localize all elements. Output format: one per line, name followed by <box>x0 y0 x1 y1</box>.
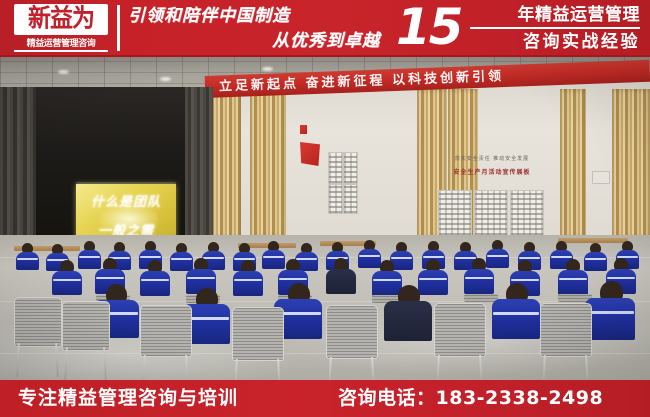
uniform-stripe <box>203 257 224 259</box>
uniform-stripe <box>455 257 476 259</box>
flag-emblem <box>300 125 307 134</box>
experience-years-block: 15 年精益运营管理 咨询实战经验 <box>392 2 642 55</box>
years-text: 年精益运营管理 咨询实战经验 <box>470 3 640 54</box>
chair-back <box>540 303 592 357</box>
person-body <box>16 252 39 270</box>
display-board <box>343 152 358 184</box>
person-body <box>326 269 356 294</box>
chair-leg <box>16 343 20 377</box>
slogan-line-1: 引领和陪伴中国制造 <box>128 4 388 29</box>
uniform-stripe <box>511 279 539 281</box>
uniform-stripe <box>419 278 447 280</box>
uniform-stripe <box>359 255 380 257</box>
person-body <box>492 299 540 339</box>
person-body <box>52 271 82 295</box>
chair-leg <box>234 359 238 380</box>
footer-bar: 专注精益管理咨询与培训 咨询电话：183-2338-2498 <box>0 380 650 417</box>
flag-emblem <box>300 142 320 166</box>
wall-board-subheading: 安全生产月活动宣传展板 <box>440 167 544 176</box>
chair-seat <box>464 294 498 302</box>
years-number: 15 <box>396 1 462 53</box>
header-bar: 新益为 精益运营管理咨询 引领和陪伴中国制造 从优秀到卓越 15 年精益运营管理… <box>0 0 650 57</box>
uniform-stripe <box>493 312 539 315</box>
years-line-1: 年精益运营管理 <box>470 3 640 27</box>
uniform-stripe <box>234 279 262 281</box>
person-body <box>585 298 635 340</box>
display-board <box>343 184 358 214</box>
promo-banner-image: 新益为 精益运营管理咨询 引领和陪伴中国制造 从优秀到卓越 15 年精益运营管理… <box>0 0 650 417</box>
chair <box>434 303 484 380</box>
person-body <box>358 249 381 268</box>
gold-curtain <box>612 89 650 239</box>
stage-curtain-left <box>0 87 36 237</box>
chair-leg <box>103 347 107 380</box>
chair-leg <box>436 355 440 380</box>
person-body <box>140 271 170 296</box>
person-body <box>170 252 193 271</box>
gold-curtain <box>560 89 586 239</box>
wall-board-heading: 落实安全责任 推动安全发展 <box>437 155 547 162</box>
chair-leg <box>479 355 483 380</box>
chair-leg <box>585 355 589 380</box>
screen-text-line-1: 什么是团队 <box>76 191 176 210</box>
uniform-stripe <box>519 257 540 259</box>
chair-leg <box>542 355 546 380</box>
person-body <box>384 301 432 341</box>
uniform-stripe <box>79 256 100 258</box>
chair-back <box>232 307 284 361</box>
chair-leg <box>328 357 332 380</box>
display-board <box>328 152 343 184</box>
person-body <box>584 252 607 271</box>
uniform-stripe <box>53 279 81 281</box>
uniform-stripe <box>279 278 307 280</box>
logo-underline <box>14 50 108 52</box>
uniform-stripe <box>373 279 401 281</box>
logo-subtitle-wrap: 精益运营管理咨询 <box>14 36 108 50</box>
person-body <box>558 270 588 295</box>
stage-curtain-right <box>185 87 213 239</box>
chair <box>540 303 590 380</box>
uniform-stripe <box>586 311 634 314</box>
chair-leg <box>55 343 59 377</box>
chair-leg <box>277 359 281 380</box>
uniform-stripe <box>96 277 124 279</box>
ceiling-light <box>58 70 69 74</box>
uniform-stripe <box>465 277 493 279</box>
footer-tagline: 专注精益管理咨询与培训 <box>18 386 238 411</box>
chair-leg <box>64 347 68 380</box>
chair <box>326 305 376 380</box>
chair-leg <box>185 355 189 380</box>
logo-company-name: 新益为 <box>28 7 94 32</box>
chair <box>140 305 190 380</box>
chair <box>232 307 282 380</box>
chair-back <box>326 305 378 359</box>
chair-back <box>434 303 486 357</box>
uniform-stripe <box>187 277 215 279</box>
ceiling-light <box>160 77 171 81</box>
uniform-stripe <box>263 256 284 258</box>
uniform-stripe <box>17 258 38 260</box>
chair <box>62 301 108 380</box>
uniform-stripe <box>559 278 587 280</box>
slogan-line-2: 从优秀到卓越 <box>128 29 388 54</box>
chair <box>14 297 60 377</box>
ceiling-light <box>262 67 273 71</box>
footer-contact[interactable]: 咨询电话：183-2338-2498 <box>338 386 603 411</box>
logo-mark: 新益为 <box>14 4 108 35</box>
chair-leg <box>371 357 375 380</box>
years-line-2: 咨询实战经验 <box>470 30 640 54</box>
uniform-stripe <box>296 258 317 260</box>
years-rule <box>470 27 640 29</box>
uniform-stripe <box>423 256 444 258</box>
chair-leg <box>142 355 146 380</box>
training-photo: 落实安全责任 推动安全发展 安全生产月活动宣传展板 立足新起点 奋进新征程 <box>0 57 650 380</box>
uniform-stripe <box>487 255 508 257</box>
company-logo[interactable]: 新益为 精益运营管理咨询 <box>14 4 108 52</box>
uniform-stripe <box>140 256 161 258</box>
chair-back <box>14 297 62 347</box>
display-board <box>328 184 343 214</box>
logo-subtitle: 精益运营管理咨询 <box>27 39 96 48</box>
uniform-stripe <box>607 277 635 279</box>
uniform-stripe <box>391 257 412 259</box>
uniform-stripe <box>551 256 572 258</box>
header-divider <box>117 5 120 51</box>
gold-curtain <box>250 89 286 239</box>
uniform-stripe <box>171 258 192 260</box>
person-body <box>78 250 101 269</box>
wall-control-panel <box>592 171 610 184</box>
uniform-stripe <box>141 279 169 281</box>
person-body <box>464 269 494 294</box>
person-body <box>486 249 509 268</box>
chair-back <box>62 301 110 351</box>
chair-back <box>140 305 192 357</box>
person-body <box>262 250 285 269</box>
header-slogan: 引领和陪伴中国制造 从优秀到卓越 <box>128 4 388 54</box>
uniform-stripe <box>585 258 606 260</box>
person-body <box>418 270 448 295</box>
person-body <box>233 271 263 296</box>
